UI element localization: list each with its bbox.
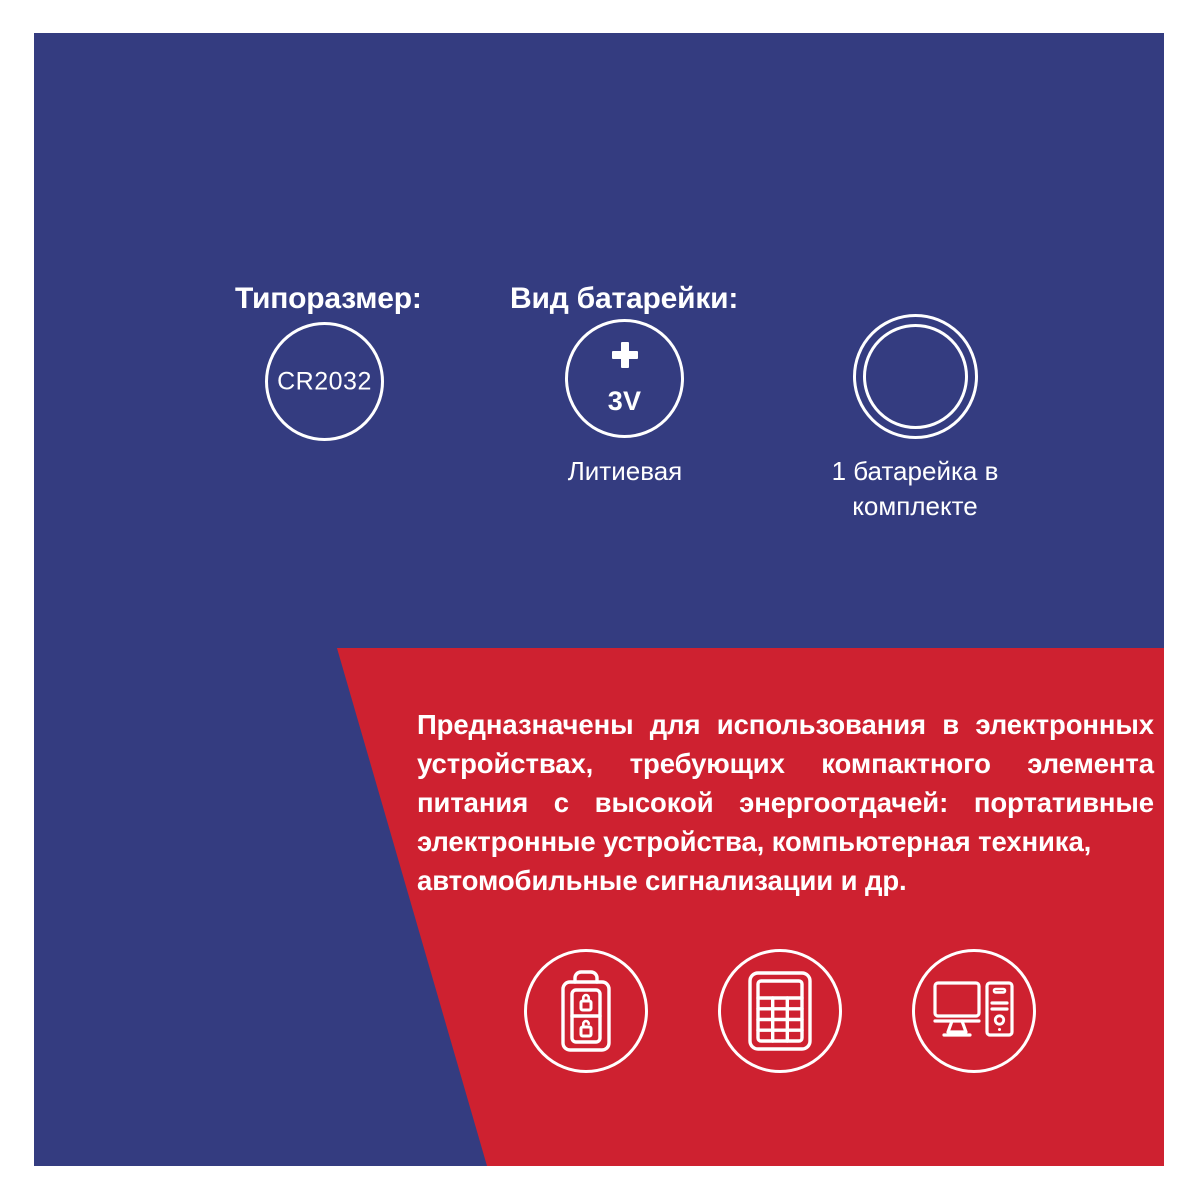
coin-cell-size-graphic: CR2032: [265, 322, 384, 441]
usage-icon-row: [524, 936, 1164, 1086]
description-last-line: автомобильные сигнализации и др.: [417, 861, 1154, 900]
description-text: Предназначены для использования в электр…: [417, 709, 1154, 857]
chemistry-caption: Литиевая: [515, 454, 735, 489]
pack-count-caption: 1 батарейка в комплекте: [775, 454, 1055, 523]
calculator-glyph: [746, 970, 814, 1052]
car-key-fob-glyph: [554, 969, 618, 1053]
voltage-label: 3V: [568, 386, 681, 417]
plus-terminal-icon: [612, 342, 638, 368]
description-block: Предназначены для использования в электр…: [417, 705, 1154, 900]
coin-cell-count-graphic: [853, 314, 978, 439]
colored-canvas: Типоразмер: Вид батарейки: CR2032 3V Лит…: [34, 33, 1164, 1166]
desktop-computer-glyph: [933, 979, 1015, 1043]
coin-cell-voltage-graphic: 3V: [565, 319, 684, 438]
battery-type-heading: Вид батарейки:: [510, 282, 738, 316]
inner-ring-decoration: [863, 324, 968, 429]
size-heading: Типоразмер:: [235, 282, 422, 316]
specs-section: Типоразмер: Вид батарейки: CR2032 3V Лит…: [34, 33, 1164, 648]
desktop-computer-icon: [912, 949, 1036, 1073]
size-value-label: CR2032: [268, 367, 381, 396]
car-key-fob-icon: [524, 949, 648, 1073]
infographic-page: Типоразмер: Вид батарейки: CR2032 3V Лит…: [0, 0, 1200, 1200]
calculator-icon: [718, 949, 842, 1073]
